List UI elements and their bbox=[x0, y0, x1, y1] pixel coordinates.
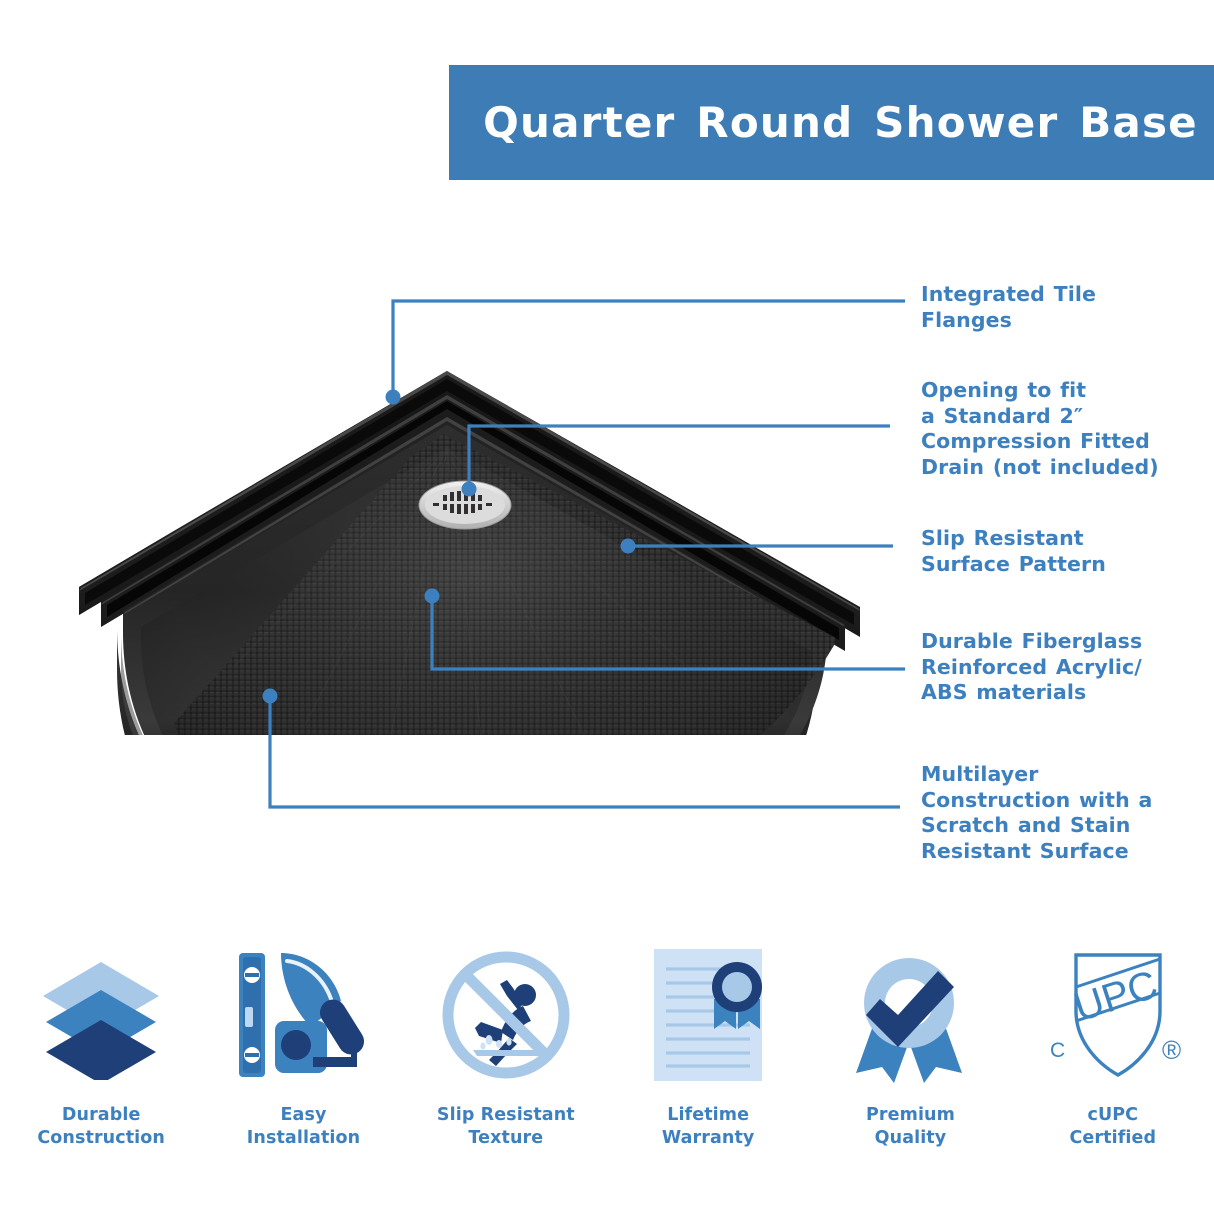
callout-line: ABS materials bbox=[921, 680, 1142, 706]
feature-durable-construction: Durable Construction bbox=[0, 940, 202, 1190]
callout-durable-materials: Durable Fiberglass Reinforced Acrylic/ A… bbox=[921, 629, 1142, 706]
callout-slip-resistant-surface: Slip Resistant Surface Pattern bbox=[921, 526, 1106, 577]
level-trowel-icon bbox=[233, 940, 373, 1090]
callout-line: Construction with a bbox=[921, 788, 1152, 814]
feature-label: cUPC Certified bbox=[1069, 1104, 1156, 1150]
product-image-quarter-round-shower-base bbox=[55, 365, 885, 735]
shower-drain-grate bbox=[419, 481, 511, 529]
callout-integrated-tile-flanges: Integrated Tile Flanges bbox=[921, 282, 1096, 333]
callout-drain-opening: Opening to fit a Standard 2″ Compression… bbox=[921, 378, 1159, 480]
feature-label: Easy Installation bbox=[247, 1104, 360, 1150]
title-banner: Quarter Round Shower Base bbox=[449, 65, 1214, 180]
callout-line: Resistant Surface bbox=[921, 839, 1152, 865]
callout-multilayer-construction: Multilayer Construction with a Scratch a… bbox=[921, 762, 1152, 864]
feature-label: Premium Quality bbox=[866, 1104, 955, 1150]
upc-shield-icon: UPC C ® bbox=[1038, 940, 1188, 1090]
upc-shield-text: UPC bbox=[1069, 962, 1163, 1030]
callout-line: Multilayer bbox=[921, 762, 1152, 788]
callout-line: Drain (not included) bbox=[921, 455, 1159, 481]
feature-badges-row: Durable Construction bbox=[0, 940, 1214, 1190]
layers-icon bbox=[36, 940, 166, 1090]
callout-line: Slip Resistant bbox=[921, 526, 1106, 552]
award-check-icon bbox=[844, 940, 976, 1090]
feature-label: Durable Construction bbox=[37, 1104, 165, 1150]
callout-line: a Standard 2″ bbox=[921, 404, 1159, 430]
callout-line: Opening to fit bbox=[921, 378, 1159, 404]
callout-line: Surface Pattern bbox=[921, 552, 1106, 578]
upc-prefix-c: C bbox=[1050, 1039, 1065, 1062]
callout-line: Integrated Tile bbox=[921, 282, 1096, 308]
callout-line: Scratch and Stain bbox=[921, 813, 1152, 839]
no-slip-icon bbox=[439, 940, 573, 1090]
feature-label: Lifetime Warranty bbox=[662, 1104, 755, 1150]
feature-slip-resistant-texture: Slip Resistant Texture bbox=[405, 940, 607, 1190]
callout-line: Reinforced Acrylic/ bbox=[921, 655, 1142, 681]
certificate-icon bbox=[646, 940, 770, 1090]
page-title: Quarter Round Shower Base bbox=[483, 98, 1198, 147]
callout-line: Flanges bbox=[921, 308, 1096, 334]
callout-line: Compression Fitted bbox=[921, 429, 1159, 455]
feature-label: Slip Resistant Texture bbox=[437, 1104, 575, 1150]
upc-registered-mark: ® bbox=[1162, 1035, 1181, 1065]
feature-cupc-certified: UPC C ® cUPC Certified bbox=[1012, 940, 1214, 1190]
callout-line: Durable Fiberglass bbox=[921, 629, 1142, 655]
feature-premium-quality: Premium Quality bbox=[809, 940, 1011, 1190]
product-illustration bbox=[55, 365, 885, 735]
infographic-page: Quarter Round Shower Base bbox=[0, 0, 1214, 1214]
feature-lifetime-warranty: Lifetime Warranty bbox=[607, 940, 809, 1190]
feature-easy-installation: Easy Installation bbox=[202, 940, 404, 1190]
